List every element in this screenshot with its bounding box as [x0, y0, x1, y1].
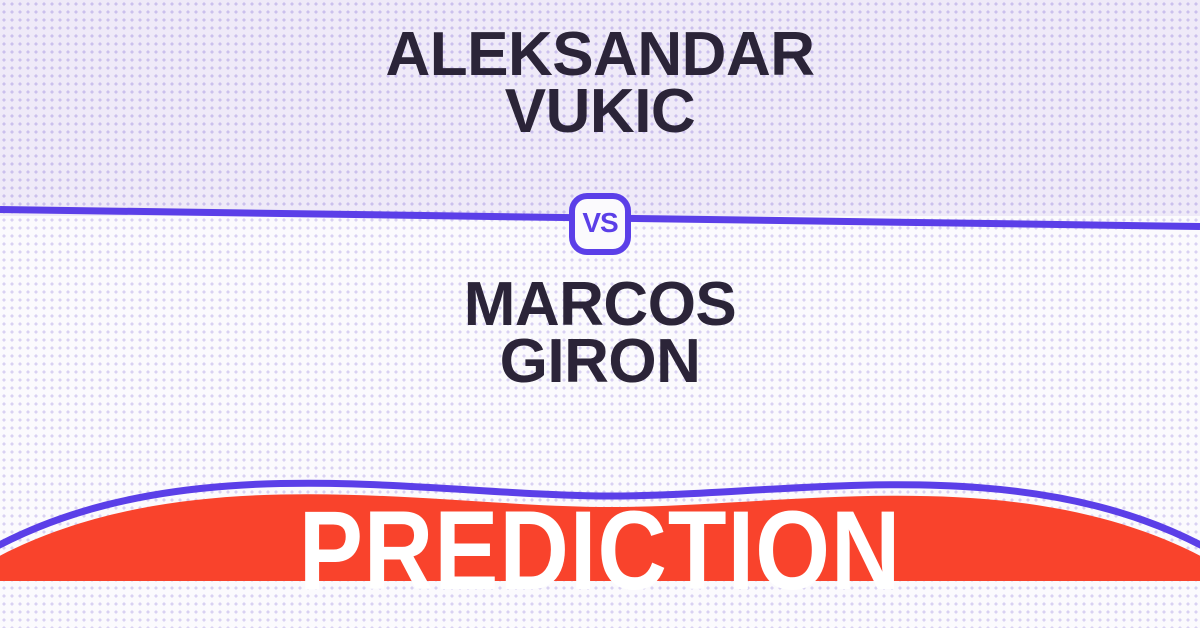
player-name-top: ALEKSANDAR VUKIC — [0, 26, 1200, 140]
player-name-bottom: MARCOS GIRON — [0, 276, 1200, 390]
match-prediction-poster: ALEKSANDAR VUKIC MARCOS GIRON VS PREDICT… — [0, 0, 1200, 628]
versus-badge-label: VS — [582, 209, 617, 237]
prediction-headline: PREDICTION — [84, 495, 1116, 607]
versus-badge: VS — [569, 193, 631, 255]
